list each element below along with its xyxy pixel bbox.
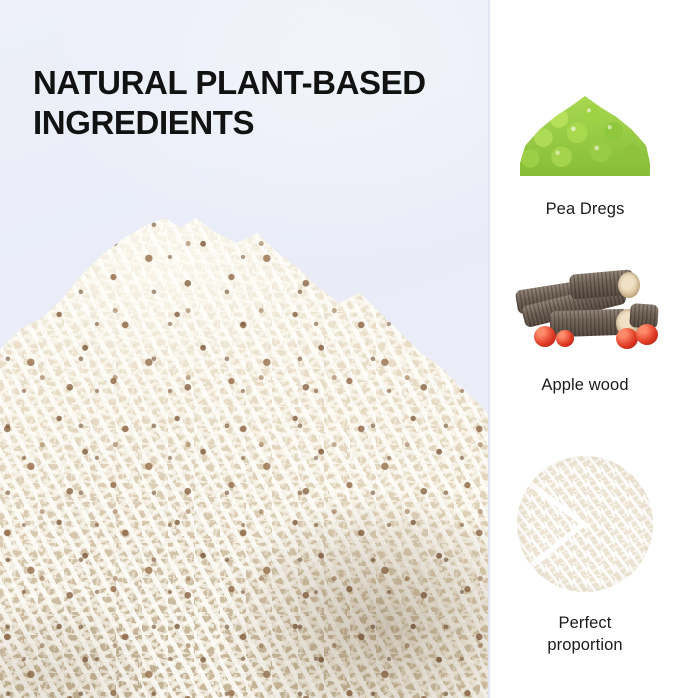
ingredient-label-apple-wood: Apple wood bbox=[541, 374, 628, 396]
log-cut-end-upper bbox=[618, 272, 640, 298]
apple-1 bbox=[534, 326, 556, 347]
proportion-circle-image bbox=[517, 456, 653, 592]
apple-2 bbox=[556, 330, 574, 347]
apple-wood-logs-image bbox=[512, 264, 658, 352]
ingredient-sidebar: Pea Dregs bbox=[491, 0, 679, 698]
circle-edge-shading bbox=[517, 456, 653, 592]
product-infographic: NATURAL PLANT-BASED INGREDIENTS Pea Dreg… bbox=[0, 0, 679, 698]
pile-shading-overlay bbox=[0, 198, 488, 698]
green-peas-mound-image bbox=[520, 96, 650, 176]
apple-4 bbox=[636, 324, 658, 345]
ingredient-card-apple-wood: Apple wood bbox=[491, 264, 679, 434]
pellet-mound bbox=[0, 198, 488, 698]
ingredient-card-perfect-proportion: Perfect proportion bbox=[491, 456, 679, 671]
apple-3 bbox=[616, 328, 638, 349]
page-title: NATURAL PLANT-BASED INGREDIENTS bbox=[33, 63, 473, 143]
ingredient-card-pea-dregs: Pea Dregs bbox=[491, 96, 679, 246]
hero-panel: NATURAL PLANT-BASED INGREDIENTS bbox=[0, 0, 488, 698]
litter-pile-image bbox=[0, 198, 488, 698]
ingredient-label-pea-dregs: Pea Dregs bbox=[546, 198, 625, 220]
ingredient-label-perfect-proportion: Perfect proportion bbox=[547, 612, 622, 656]
peas-highlight-overlay bbox=[520, 96, 650, 176]
